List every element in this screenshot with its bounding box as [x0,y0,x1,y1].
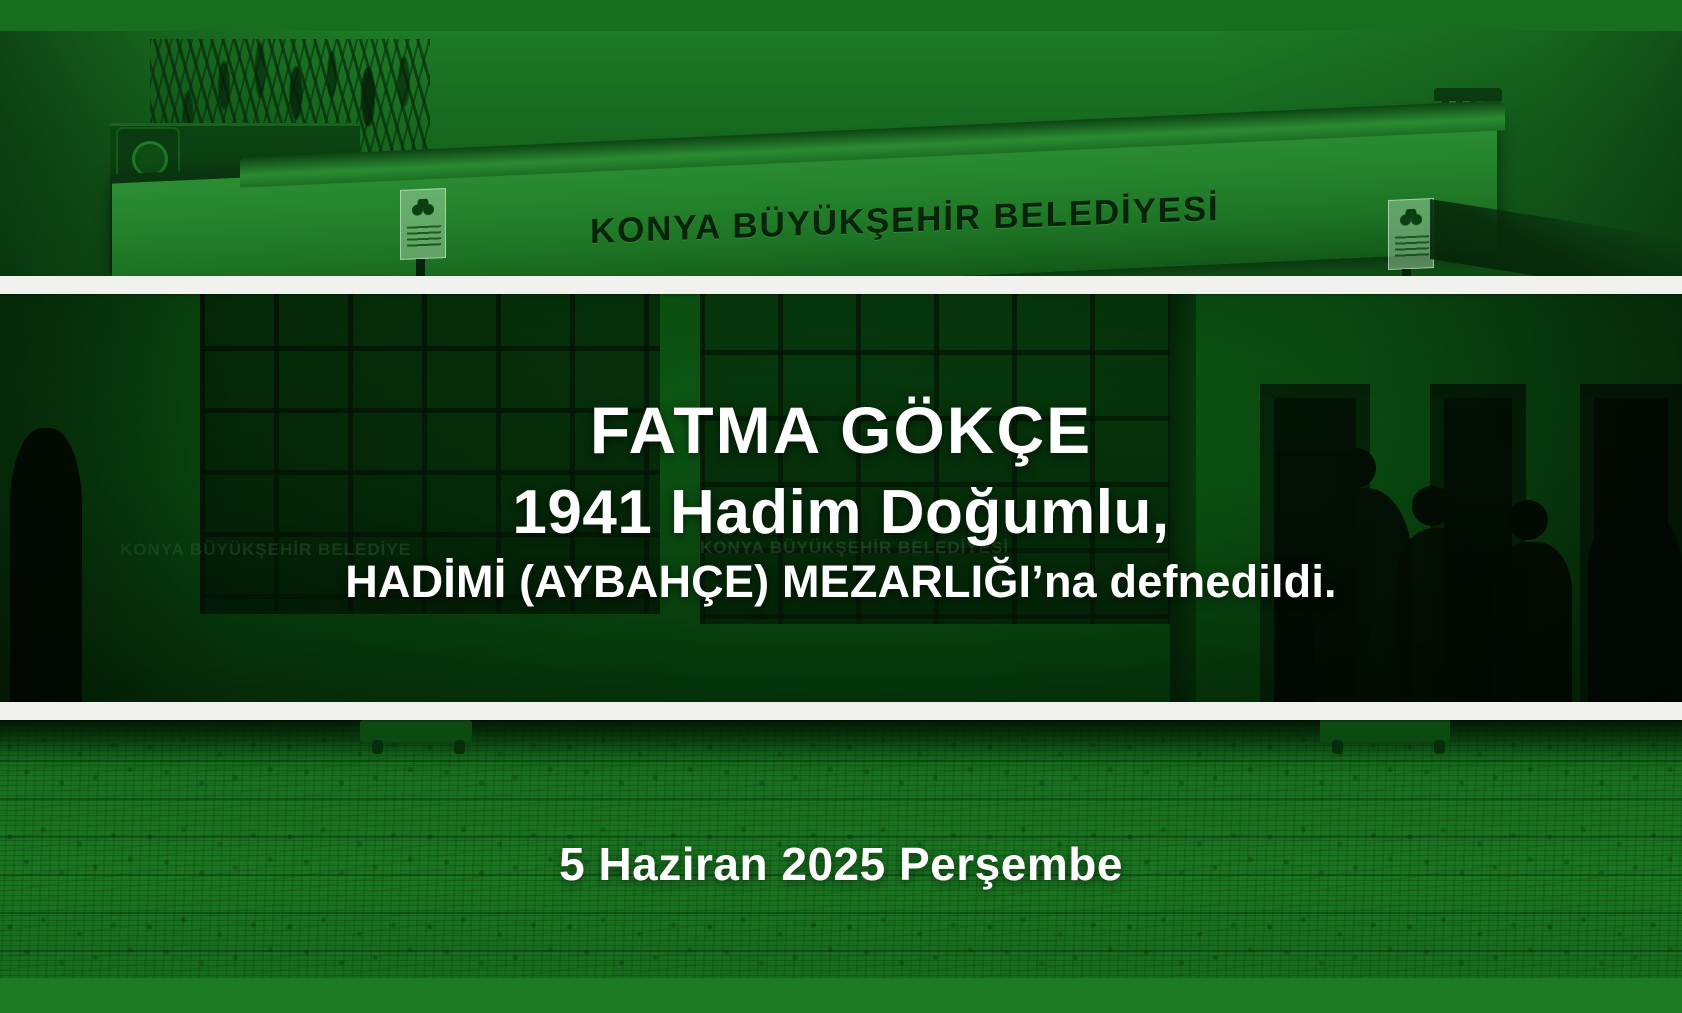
catafalque-leg-left [416,259,425,276]
date-panel: 5 Haziran 2025 Perşembe [0,720,1682,978]
municipality-logo-plaque-right [1388,198,1434,270]
bottom-accent-strip [0,978,1682,1013]
main-message-panel: KONYA BÜYÜKŞEHİR BELEDİYE KONYA BÜYÜKŞEH… [0,294,1682,702]
header-photo-panel: KONYA BÜYÜKŞEHİR BELEDİYESİ [0,31,1682,276]
date-text-block: 5 Haziran 2025 Perşembe [0,720,1682,978]
minaret-cap [1434,88,1502,101]
announcement-text-block: FATMA GÖKÇE 1941 Hadim Doğumlu, HADİMİ (… [0,294,1682,702]
top-accent-strip [0,0,1682,31]
deceased-name: FATMA GÖKÇE [590,396,1092,465]
municipality-logo-plaque-left [400,188,446,260]
divider-bar-top [0,276,1682,294]
funeral-date: 5 Haziran 2025 Perşembe [559,837,1123,891]
catafalque-leg-right [1402,269,1411,276]
birth-info-line: 1941 Hadim Doğumlu, [512,481,1169,545]
burial-info-line: HADİMİ (AYBAHÇE) MEZARLIĞI’na defnedildi… [345,559,1337,606]
divider-bar-bottom [0,702,1682,720]
funeral-announcement-poster: KONYA BÜYÜKŞEHİR BELEDİYESİ KONYA BÜYÜKŞ… [0,0,1682,1013]
